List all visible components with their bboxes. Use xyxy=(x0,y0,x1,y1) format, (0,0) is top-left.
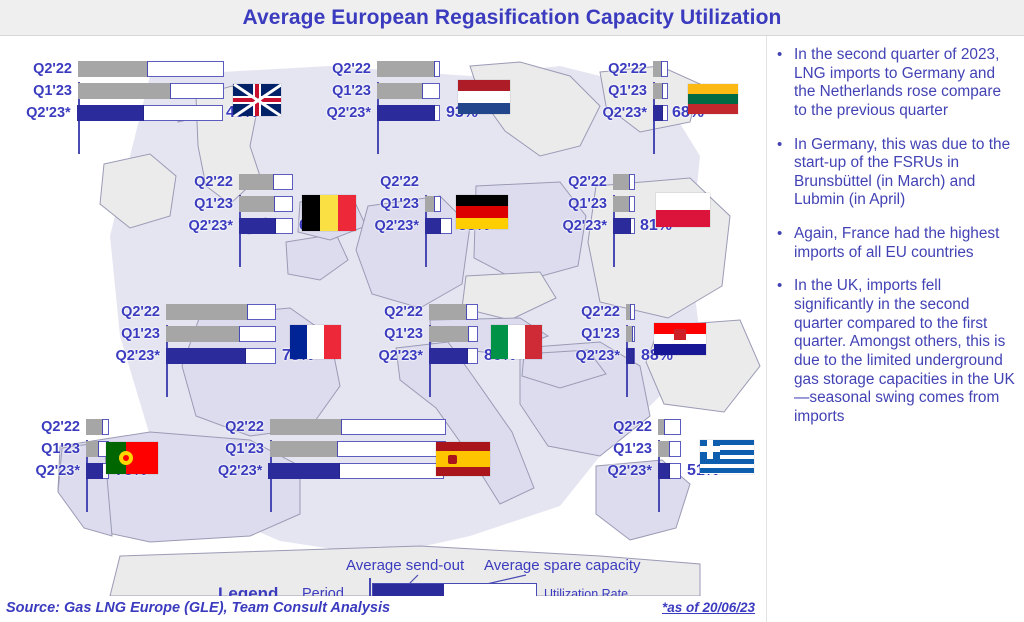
bar xyxy=(626,348,638,364)
list-item: • In the UK, imports fell significantly … xyxy=(777,277,1016,426)
chart-row: Q2'22 xyxy=(594,416,766,438)
list-item: • In the second quarter of 2023, LNG imp… xyxy=(777,46,1016,121)
bar xyxy=(626,326,646,342)
legend-period-label: Period xyxy=(302,586,344,596)
footer: Source: Gas LNG Europe (GLE), Team Consu… xyxy=(0,596,766,622)
period-label: Q2'22 xyxy=(18,61,78,77)
bar-send-out xyxy=(626,348,634,364)
infographic-page: Average European Regasification Capacity… xyxy=(0,0,1024,622)
legend-send-out-caption: Average send-out xyxy=(346,557,464,574)
bar xyxy=(270,441,450,457)
bar-send-out xyxy=(429,304,467,320)
period-label: Q2'23* xyxy=(365,348,429,364)
period-label: Q1'23 xyxy=(14,441,86,457)
flag-spain xyxy=(436,442,490,476)
bar xyxy=(77,105,223,121)
bar-send-out xyxy=(239,196,275,212)
chart-row: Q1'23 xyxy=(18,80,258,102)
bar xyxy=(270,419,450,435)
bar-send-out xyxy=(429,326,469,342)
bar xyxy=(429,348,481,364)
legend-bar xyxy=(372,583,537,596)
chart-row: Q2'22 xyxy=(18,58,258,80)
bar xyxy=(626,304,646,320)
bar-send-out xyxy=(658,419,665,435)
bar-send-out xyxy=(613,174,630,190)
legend-origin-tick xyxy=(369,578,371,596)
period-label: Q2'22 xyxy=(556,174,613,190)
bar xyxy=(377,61,487,77)
chart-row: Q2'22 xyxy=(14,416,204,438)
bar xyxy=(658,463,684,479)
source-note: Source: Gas LNG Europe (GLE), Team Consu… xyxy=(6,600,390,616)
bar xyxy=(239,174,309,190)
bar xyxy=(658,441,692,457)
period-label: Q2'23* xyxy=(14,463,86,479)
bullet-icon: • xyxy=(777,46,794,121)
period-label: Q2'22 xyxy=(320,61,377,77)
page-title: Average European Regasification Capacity… xyxy=(243,6,782,30)
bullet-text: In the UK, imports fell significantly in… xyxy=(794,277,1016,426)
bullet-text: In the second quarter of 2023, LNG impor… xyxy=(794,46,1016,121)
bar-send-out xyxy=(77,105,144,121)
period-label: Q2'22 xyxy=(98,304,166,320)
bar xyxy=(653,61,675,77)
flag-italy xyxy=(491,325,542,359)
legend-title: Legend xyxy=(218,584,278,596)
chart-row: Q2'23* 68% xyxy=(596,102,766,124)
bar xyxy=(658,419,692,435)
flag-france xyxy=(290,325,341,359)
bar-send-out xyxy=(270,419,342,435)
bar-send-out xyxy=(626,326,633,342)
chart-row: Q2'22 xyxy=(562,301,762,323)
flag-greece xyxy=(700,440,754,474)
country-chart-poland[interactable]: Q2'22 Q1'23 Q2'23* 81% xyxy=(556,171,766,237)
period-label: Q1'23 xyxy=(594,441,658,457)
list-item: • In Germany, this was due to the start-… xyxy=(777,136,1016,211)
bar xyxy=(653,83,675,99)
bar-send-out xyxy=(166,348,246,364)
bar xyxy=(239,218,296,234)
legend-utilization-caption: Utilization Rate xyxy=(544,587,628,596)
bullet-icon: • xyxy=(777,136,794,211)
period-label: Q1'23 xyxy=(556,196,613,212)
country-chart-spain[interactable]: Q2'22 Q1'23 Q2'23* 42% xyxy=(198,416,478,482)
bar xyxy=(166,348,279,364)
bar xyxy=(78,83,228,99)
bar-send-out xyxy=(425,196,435,212)
bullet-text: In Germany, this was due to the start-up… xyxy=(794,136,1016,211)
bar-send-out xyxy=(239,218,276,234)
period-label: Q1'23 xyxy=(562,326,626,342)
chart-row: Q1'23 xyxy=(596,80,766,102)
bar-send-out xyxy=(425,218,441,234)
period-label: Q2'23* xyxy=(182,218,239,234)
period-label: Q2'22 xyxy=(14,419,86,435)
flag-lithuania xyxy=(688,84,738,114)
period-label: Q2'23* xyxy=(320,105,377,121)
chart-row: Q2'22 xyxy=(320,58,520,80)
legend: Average send-out Average spare capacity … xyxy=(206,551,676,596)
bar xyxy=(429,304,489,320)
flag-netherlands xyxy=(458,80,510,114)
list-item: • Again, France had the highest imports … xyxy=(777,225,1016,262)
chart-row: Q2'23* 80% xyxy=(365,345,585,367)
flag-croatia xyxy=(654,323,706,355)
bar xyxy=(653,105,669,121)
bullet-icon: • xyxy=(777,277,794,426)
bar-send-out xyxy=(658,463,670,479)
period-label: Q2'23* xyxy=(18,105,77,121)
bar xyxy=(78,61,228,77)
bar xyxy=(425,218,455,234)
flag-poland xyxy=(656,193,710,227)
chart-row: Q2'22 xyxy=(365,301,585,323)
country-chart-united-kingdom[interactable]: Q2'22 Q1'23 Q2'23* 46% xyxy=(18,58,258,124)
period-label: Q1'23 xyxy=(320,83,377,99)
commentary-panel: • In the second quarter of 2023, LNG imp… xyxy=(766,36,1024,622)
bar-send-out xyxy=(653,105,663,121)
country-chart-greece[interactable]: Q2'22 Q1'23 Q2'23* 51% xyxy=(594,416,766,482)
period-label: Q1'23 xyxy=(98,326,166,342)
bar xyxy=(613,218,637,234)
period-label: Q2'23* xyxy=(98,348,166,364)
bar-send-out xyxy=(86,419,103,435)
period-label: Q2'23* xyxy=(198,463,268,479)
flag-portugal xyxy=(106,442,158,474)
bar-send-out xyxy=(653,61,662,77)
bar xyxy=(268,463,443,479)
flag-germany xyxy=(456,195,508,229)
bar-send-out xyxy=(429,348,468,364)
period-label: Q2'23* xyxy=(562,348,626,364)
country-chart-lithuania[interactable]: Q2'22 Q1'23 Q2'23* 68% xyxy=(596,58,766,124)
chart-row: Q2'22 xyxy=(368,171,588,193)
chart-row: Q2'22 xyxy=(198,416,478,438)
bar xyxy=(166,326,281,342)
bar-send-out xyxy=(268,463,340,479)
bar xyxy=(377,105,443,121)
bar-send-out xyxy=(86,463,103,479)
bar-send-out xyxy=(166,304,248,320)
chart-row: Q1'23 xyxy=(365,323,585,345)
bar-send-out xyxy=(377,61,435,77)
period-label: Q2'22 xyxy=(365,304,429,320)
bar xyxy=(166,304,281,320)
period-label: Q2'22 xyxy=(368,174,425,190)
period-label: Q1'23 xyxy=(198,441,270,457)
bar xyxy=(86,419,120,435)
flag-belgium xyxy=(302,195,356,231)
period-label: Q2'22 xyxy=(594,419,658,435)
period-label: Q1'23 xyxy=(596,83,653,99)
country-chart-netherlands[interactable]: Q2'22 Q1'23 Q2'23* 93% xyxy=(320,58,520,124)
bar-send-out xyxy=(613,196,630,212)
bar xyxy=(613,196,643,212)
flag-united-kingdom xyxy=(233,84,281,116)
country-chart-croatia[interactable]: Q2'22 Q1'23 Q2'23* 88% xyxy=(562,301,762,367)
country-chart-germany[interactable]: Q2'22 Q1'23 Q2'23* 58% xyxy=(368,171,588,237)
bar-send-out xyxy=(78,83,171,99)
bar-send-out xyxy=(653,83,663,99)
bar-send-out xyxy=(613,218,631,234)
bar-send-out xyxy=(377,83,423,99)
period-label: Q1'23 xyxy=(182,196,239,212)
chart-row: Q2'23* 46% xyxy=(18,102,258,124)
period-label: Q2'22 xyxy=(562,304,626,320)
bar-send-out xyxy=(270,441,338,457)
as-of-note[interactable]: *as of 20/06/23 xyxy=(662,600,755,615)
bar-send-out xyxy=(166,326,240,342)
bar-send-out xyxy=(658,441,670,457)
period-label: Q1'23 xyxy=(18,83,78,99)
bar-send-out xyxy=(377,105,435,121)
bar-send-out xyxy=(86,441,99,457)
period-label: Q2'22 xyxy=(198,419,270,435)
title-bar: Average European Regasification Capacity… xyxy=(0,0,1024,36)
bar-send-out xyxy=(626,304,631,320)
bar xyxy=(425,174,465,190)
period-label: Q2'23* xyxy=(596,105,653,121)
bar-send-out xyxy=(239,174,274,190)
period-label: Q2'23* xyxy=(556,218,613,234)
period-label: Q2'22 xyxy=(182,174,239,190)
bullet-icon: • xyxy=(777,225,794,262)
period-label: Q2'22 xyxy=(596,61,653,77)
legend-bar-fill xyxy=(373,584,444,596)
bar-send-out xyxy=(78,61,148,77)
bar xyxy=(239,196,309,212)
chart-row: Q2'22 xyxy=(98,301,348,323)
chart-row: Q2'22 xyxy=(556,171,766,193)
bar xyxy=(613,174,643,190)
bar xyxy=(429,326,489,342)
map-panel: Q2'22 Q1'23 Q2'23* 46% xyxy=(0,36,766,596)
country-chart-portugal[interactable]: Q2'22 Q1'23 Q2'23* 75% xyxy=(14,416,204,482)
country-chart-italy[interactable]: Q2'22 Q1'23 Q2'23* 80% xyxy=(365,301,585,367)
chart-row: Q2'22 xyxy=(596,58,766,80)
legend-spare-caption: Average spare capacity xyxy=(484,557,640,574)
period-label: Q1'23 xyxy=(368,196,425,212)
period-label: Q2'23* xyxy=(594,463,658,479)
country-chart-france[interactable]: Q2'22 Q1'23 Q2'23* 73% xyxy=(98,301,348,367)
period-label: Q2'23* xyxy=(368,218,425,234)
period-label: Q1'23 xyxy=(365,326,429,342)
bullet-text: Again, France had the highest imports of… xyxy=(794,225,1016,262)
